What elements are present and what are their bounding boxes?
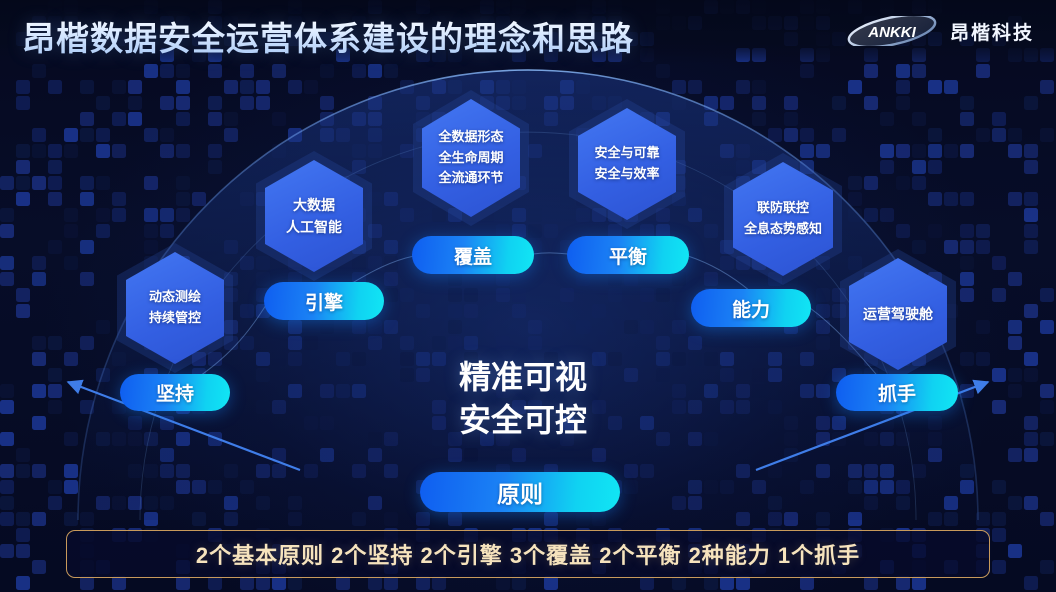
hex-node-full-coverage[interactable]: 全数据形态全生命周期全流通环节	[422, 99, 520, 217]
pill-principle[interactable]: 原则	[420, 472, 620, 512]
hex-line: 人工智能	[286, 216, 342, 238]
hex-node-dynamic-mapping[interactable]: 动态测绘持续管控	[126, 252, 224, 364]
hex-line: 联防联控	[757, 198, 809, 219]
slogan-line-2: 安全可控	[398, 399, 648, 442]
slide-header: 昂楷数据安全运营体系建设的理念和思路 ANKKI 昂楷科技	[0, 0, 1056, 64]
hex-line: 全数据形态	[438, 127, 503, 148]
pill-grip[interactable]: 抓手	[836, 374, 958, 411]
hex-node-security-balance[interactable]: 安全与可靠安全与效率	[578, 108, 676, 220]
hex-line: 动态测绘	[149, 287, 201, 308]
slide-canvas: 昂楷数据安全运营体系建设的理念和思路 ANKKI 昂楷科技	[0, 0, 1056, 592]
hex-node-ops-cockpit[interactable]: 运营驾驶舱	[849, 258, 947, 370]
brand-name: 昂楷科技	[950, 18, 1034, 45]
pill-persist[interactable]: 坚持	[120, 374, 230, 411]
summary-text: 2个基本原则 2个坚持 2个引擎 3个覆盖 2个平衡 2种能力 1个抓手	[196, 538, 860, 570]
hex-line: 全生命周期	[438, 148, 503, 169]
diagram-nodes: 动态测绘持续管控大数据人工智能全数据形态全生命周期全流通环节安全与可靠安全与效率…	[0, 0, 1056, 592]
ankki-logo-icon: ANKKI	[846, 16, 938, 46]
hex-line: 运营驾驶舱	[863, 303, 933, 325]
center-slogan: 精准可视 安全可控	[398, 356, 648, 442]
hex-node-bigdata-ai[interactable]: 大数据人工智能	[265, 160, 363, 272]
hex-node-joint-defense[interactable]: 联防联控全息态势感知	[733, 162, 833, 276]
hex-line: 持续管控	[149, 308, 201, 329]
hex-line: 安全与可靠	[594, 143, 659, 164]
slogan-line-1: 精准可视	[398, 356, 648, 399]
hex-line: 安全与效率	[594, 164, 659, 185]
hex-line: 大数据	[293, 194, 335, 216]
hex-line: 全息态势感知	[744, 219, 822, 240]
brand-logo: ANKKI 昂楷科技	[846, 16, 1034, 46]
pill-capability[interactable]: 能力	[691, 289, 811, 327]
pill-engine[interactable]: 引擎	[264, 282, 384, 320]
pill-balance[interactable]: 平衡	[567, 236, 689, 274]
pill-coverage[interactable]: 覆盖	[412, 236, 534, 274]
hex-line: 全流通环节	[438, 168, 503, 189]
page-title: 昂楷数据安全运营体系建设的理念和思路	[22, 12, 634, 60]
summary-bar: 2个基本原则 2个坚持 2个引擎 3个覆盖 2个平衡 2种能力 1个抓手	[66, 530, 990, 578]
svg-text:ANKKI: ANKKI	[867, 24, 916, 41]
